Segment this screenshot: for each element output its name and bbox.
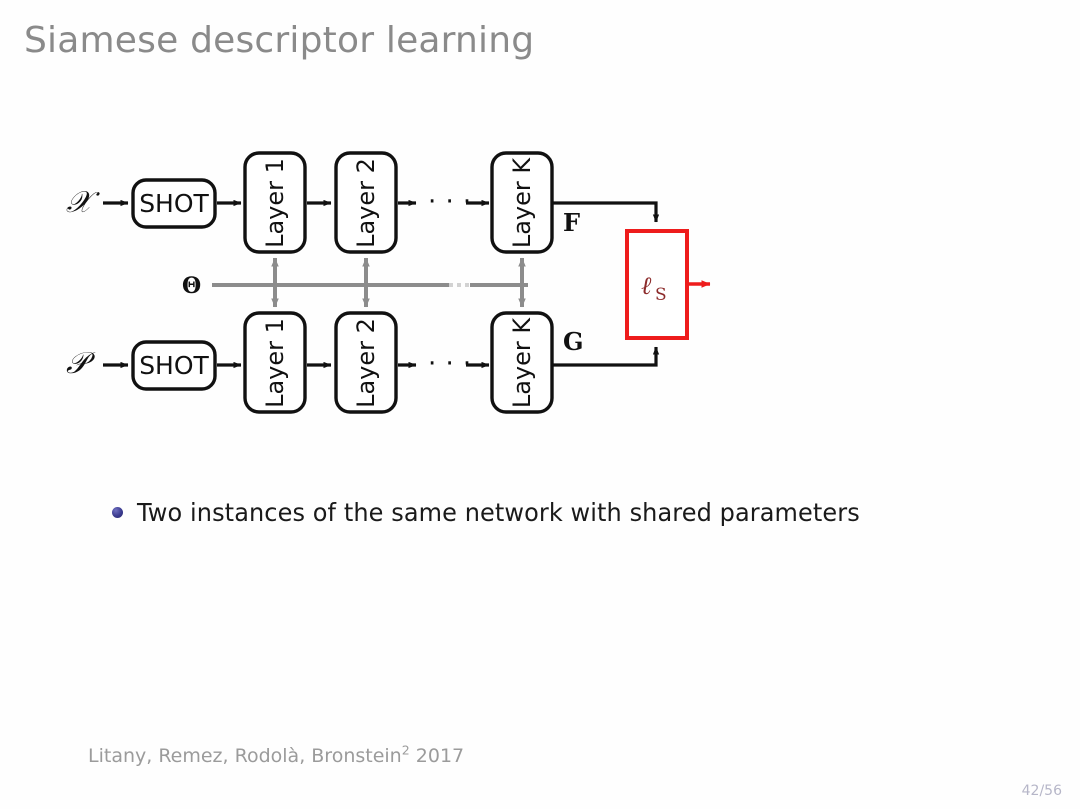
page-number: 42/56 xyxy=(1022,783,1062,799)
layer-box-bottom-1-label: Layer 1 xyxy=(261,318,289,408)
siamese-loss-symbol: ℓ xyxy=(641,271,652,300)
input-y-label: 𝒫 xyxy=(66,346,96,381)
layer-box-top-2-label: Layer 2 xyxy=(352,158,380,248)
shared-parameters-label: Θ xyxy=(182,273,201,299)
bullet-dot-icon xyxy=(112,507,123,518)
bullet-item-label: Two instances of the same network with s… xyxy=(137,498,860,527)
siamese-network-diagram: 𝒳 SHOT Layer 1 Layer 2 · · · Layer K xyxy=(0,0,1080,470)
output-label-f: F xyxy=(563,208,580,237)
shot-box-bottom-label: SHOT xyxy=(139,351,209,380)
layer-box-top-k-label: Layer K xyxy=(508,157,536,249)
siamese-loss-subscript: S xyxy=(655,285,667,305)
citation: Litany, Remez, Rodolà, Bronstein2 2017 xyxy=(88,745,464,767)
output-label-g: G xyxy=(563,327,584,356)
bullet-list-item: Two instances of the same network with s… xyxy=(112,498,890,527)
layer-box-bottom-2-label: Layer 2 xyxy=(352,318,380,408)
input-x-label: 𝒳 xyxy=(66,185,100,220)
citation-authors: Litany, Remez, Rodolà, Bronstein xyxy=(88,745,402,767)
citation-superscript: 2 xyxy=(402,743,410,758)
citation-year: 2017 xyxy=(416,745,464,767)
layer-box-bottom-k-label: Layer K xyxy=(508,317,536,409)
layer-box-top-1-label: Layer 1 xyxy=(261,158,289,248)
slide-root: Siamese descriptor learning 𝒳 xyxy=(0,0,1080,809)
shot-box-top-label: SHOT xyxy=(139,189,209,218)
